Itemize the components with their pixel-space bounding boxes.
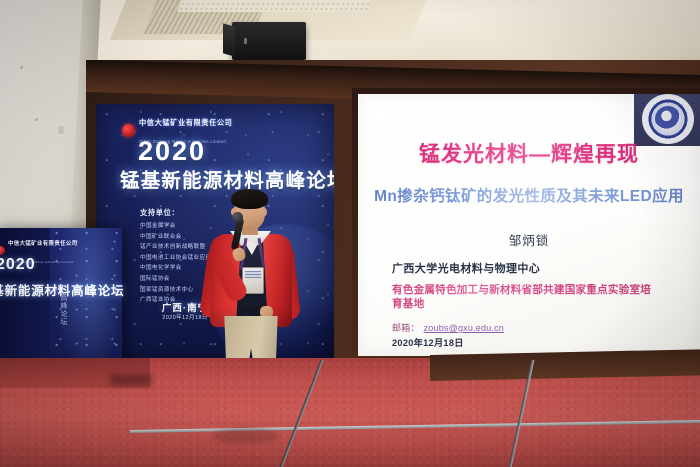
podium-side-text: 高峰论坛 bbox=[58, 294, 68, 326]
backdrop-logo-cn: 中信大锰矿业有限责任公司 bbox=[139, 118, 232, 127]
ceiling-projector-box bbox=[232, 22, 306, 60]
projector-indicator-icon bbox=[244, 38, 247, 44]
slide-email-line: 邮箱： zoubs@gxu.edu.cn bbox=[392, 321, 504, 334]
speaker-ear bbox=[262, 208, 267, 216]
speaker-person bbox=[196, 188, 306, 386]
projection-screen: 锰发光材料—辉煌再现 Mn掺杂钙钛矿的发光性质及其未来LED应用 邹炳锁 广西大… bbox=[358, 94, 700, 356]
slide-email-label: 邮箱： bbox=[392, 321, 420, 334]
podium-logo-cn: 中信大锰矿业有限责任公司 bbox=[8, 241, 78, 247]
microphone-head-icon bbox=[232, 212, 243, 223]
carpet-stain bbox=[212, 428, 278, 444]
podium-year: 2020 bbox=[0, 256, 36, 274]
slide-author: 邹炳锁 bbox=[358, 230, 700, 249]
backdrop-support-heading: 支持单位： bbox=[140, 208, 179, 218]
conference-photo: 中信大锰矿业有限责任公司 CITIC Dameng Mining Industr… bbox=[0, 0, 700, 467]
slide-laboratory: 有色金属特色加工与新材料省部共建国家重点实验室培育基地 bbox=[392, 284, 660, 312]
slide-subtitle: Mn掺杂钙钛矿的发光性质及其未来LED应用 bbox=[358, 184, 700, 206]
company-mark-icon bbox=[0, 246, 5, 255]
wall-fixture-icon bbox=[35, 118, 38, 121]
slide-email-address: zoubs@gxu.edu.cn bbox=[424, 323, 504, 333]
backdrop-year: 2020 bbox=[138, 136, 206, 167]
university-emblem-icon bbox=[642, 94, 694, 144]
podium-shadow bbox=[110, 374, 152, 386]
speaker-hair bbox=[231, 189, 268, 209]
slide-date: 2020年12月18日 bbox=[392, 335, 464, 349]
sprinkler-icon bbox=[58, 126, 64, 134]
slide-organization: 广西大学光电材料与物理中心 bbox=[392, 260, 540, 276]
wall-fixture-icon bbox=[20, 66, 23, 69]
company-mark-icon bbox=[122, 124, 135, 137]
ceiling-textured-panel bbox=[177, 0, 376, 12]
slide-title: 锰发光材料—辉煌再现 bbox=[358, 138, 700, 168]
